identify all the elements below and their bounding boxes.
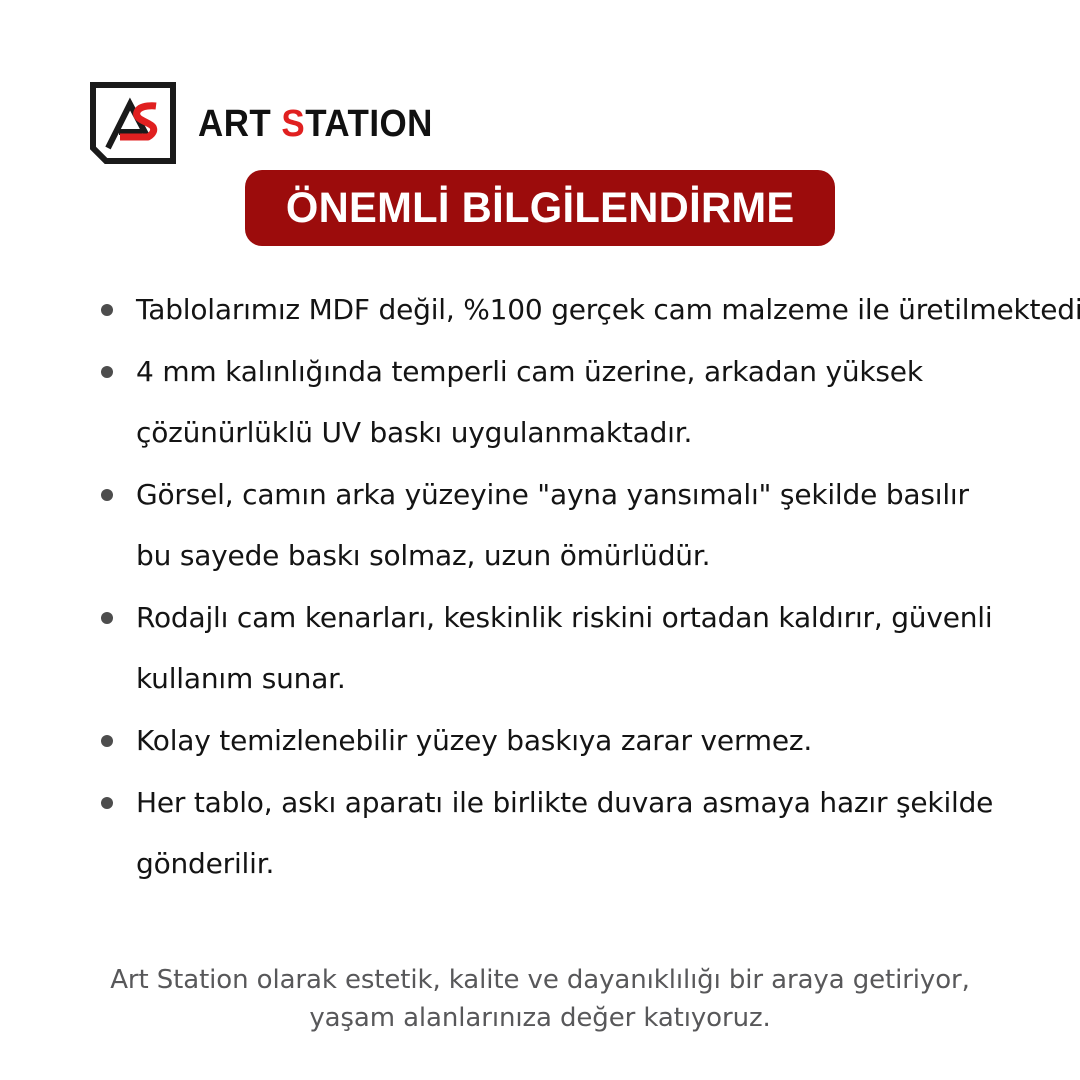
- list-item: Görsel, camın arka yüzeyine "ayna yansım…: [98, 471, 1038, 580]
- bullet-dot-icon: [101, 304, 113, 316]
- info-bullet-list: Tablolarımız MDF değil, %100 gerçek cam …: [98, 286, 1038, 902]
- brand-header: ART STATION: [90, 82, 453, 164]
- bullet-dot-icon: [101, 366, 113, 378]
- bullet-text: Her tablo, askı aparatı ile birlikte duv…: [136, 779, 1038, 827]
- bullet-text-continuation: kullanım sunar.: [136, 655, 1038, 703]
- wordmark-accent-letter: S: [281, 103, 305, 145]
- bullet-text: 4 mm kalınlığında temperli cam üzerine, …: [136, 348, 1038, 396]
- bullet-text: Tablolarımız MDF değil, %100 gerçek cam …: [136, 286, 1038, 334]
- bullet-dot-icon: [101, 735, 113, 747]
- promo-info-card: ART STATION ÖNEMLİ BİLGİLENDİRME Tablola…: [0, 0, 1080, 1080]
- bullet-text-continuation: bu sayede baskı solmaz, uzun ömürlüdür.: [136, 532, 1038, 580]
- list-item: Kolay temizlenebilir yüzey baskıya zarar…: [98, 717, 1038, 765]
- bullet-dot-icon: [101, 612, 113, 624]
- bullet-text-continuation: çözünürlüklü UV baskı uygulanmaktadır.: [136, 409, 1038, 457]
- banner-title: ÖNEMLİ BİLGİLENDİRME: [286, 187, 795, 230]
- bullet-dot-icon: [101, 489, 113, 501]
- important-notice-banner: ÖNEMLİ BİLGİLENDİRME: [245, 170, 835, 246]
- list-item: Rodajlı cam kenarları, keskinlik riskini…: [98, 594, 1038, 703]
- list-item: 4 mm kalınlığında temperli cam üzerine, …: [98, 348, 1038, 457]
- list-item: Her tablo, askı aparatı ile birlikte duv…: [98, 779, 1038, 888]
- tagline-line-2: yaşam alanlarınıza değer katıyoruz.: [0, 1000, 1080, 1038]
- list-item: Tablolarımız MDF değil, %100 gerçek cam …: [98, 286, 1038, 334]
- brand-wordmark: ART STATION: [198, 105, 433, 143]
- wordmark-part-1: ART: [198, 103, 281, 145]
- art-station-monogram-icon: [90, 82, 176, 164]
- bullet-text: Kolay temizlenebilir yüzey baskıya zarar…: [136, 717, 1038, 765]
- bullet-text: Rodajlı cam kenarları, keskinlik riskini…: [136, 594, 1038, 642]
- bullet-text: Görsel, camın arka yüzeyine "ayna yansım…: [136, 471, 1038, 519]
- wordmark-part-2: TATION: [305, 103, 433, 145]
- footer-tagline: Art Station olarak estetik, kalite ve da…: [0, 962, 1080, 1037]
- bullet-text-continuation: gönderilir.: [136, 840, 1038, 888]
- bullet-dot-icon: [101, 797, 113, 809]
- tagline-line-1: Art Station olarak estetik, kalite ve da…: [0, 962, 1080, 1000]
